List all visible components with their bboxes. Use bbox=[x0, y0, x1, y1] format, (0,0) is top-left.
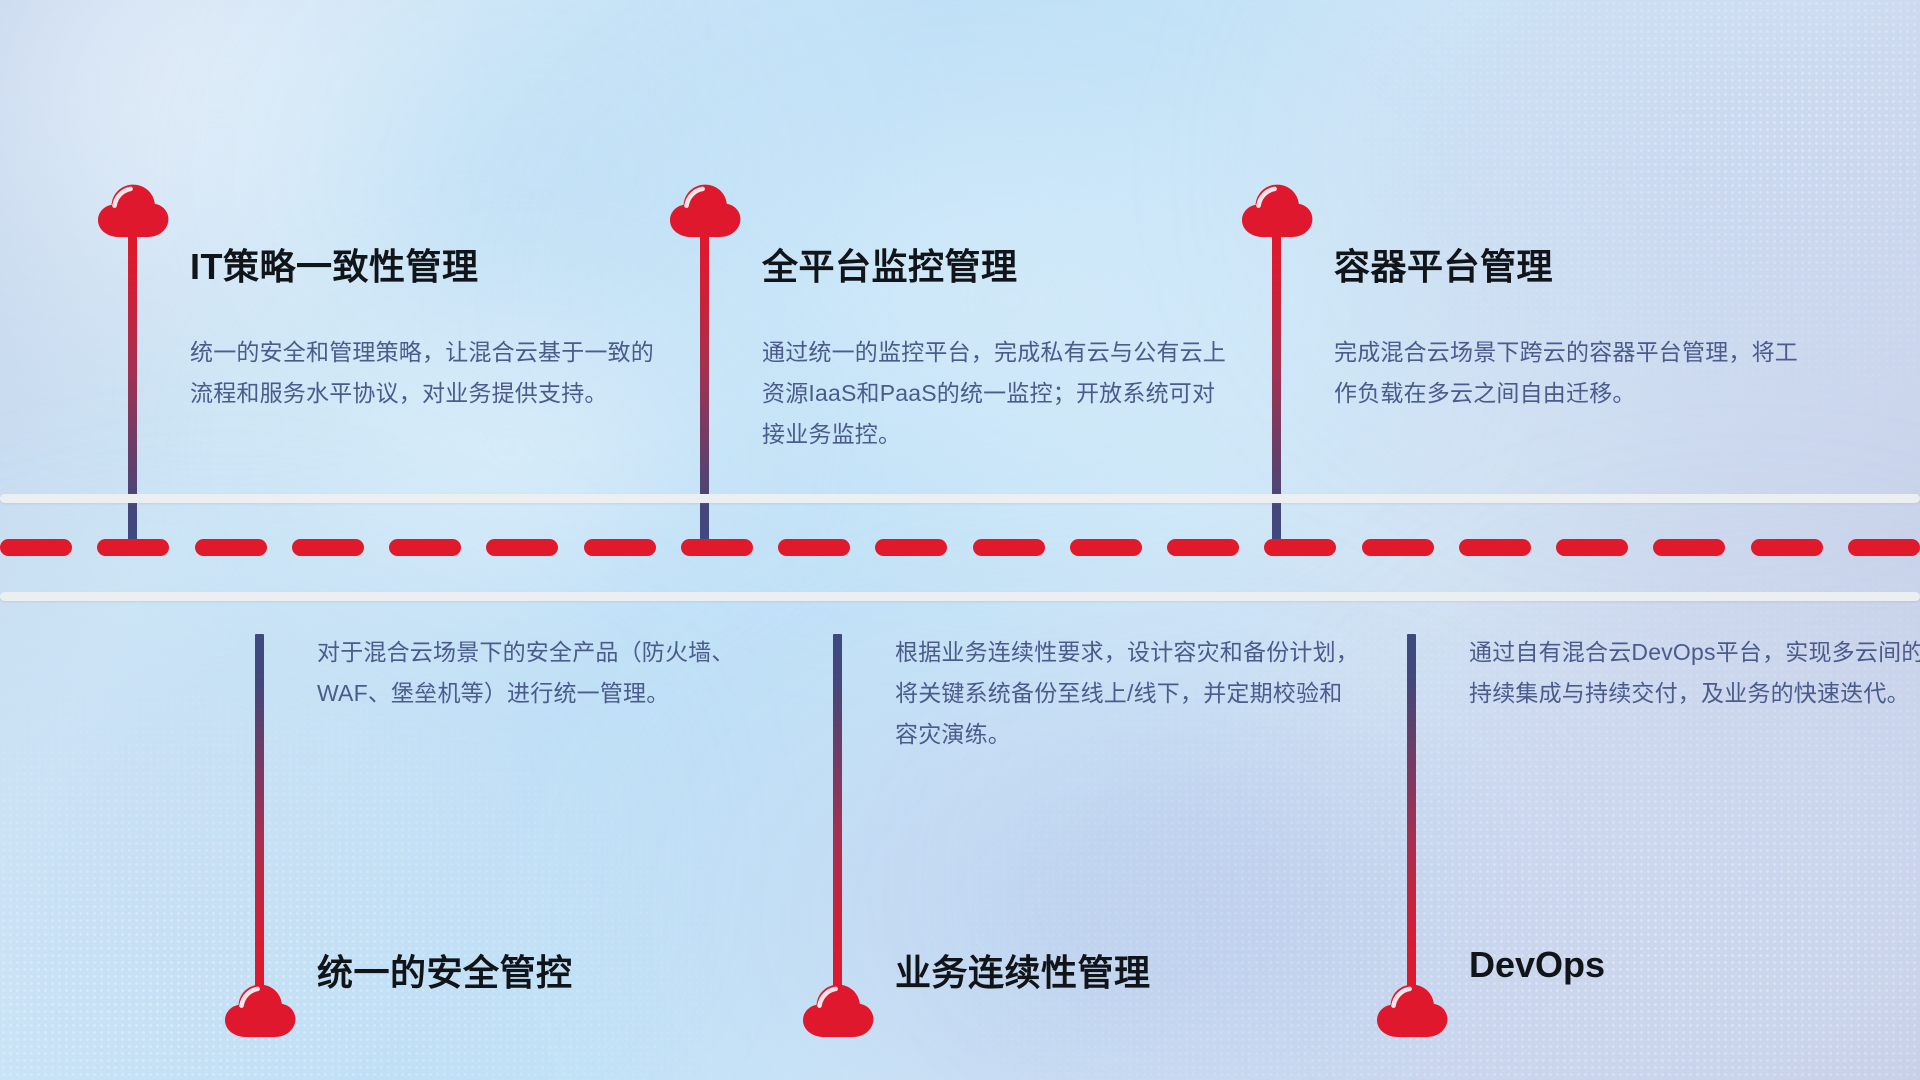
divider-dash bbox=[875, 539, 947, 556]
item-description: 对于混合云场景下的安全产品（防火墙、WAF、堡垒机等）进行统一管理。 bbox=[317, 632, 787, 714]
connector-stem bbox=[255, 634, 264, 986]
item-description: 根据业务连续性要求，设计容灾和备份计划，将关键系统备份至线上/线下，并定期校验和… bbox=[895, 632, 1365, 755]
divider-dash bbox=[1167, 539, 1239, 556]
divider-dash bbox=[1070, 539, 1142, 556]
cloud-icon bbox=[222, 982, 298, 1038]
divider-dash bbox=[1751, 539, 1823, 556]
cloud-icon bbox=[95, 182, 171, 238]
divider-dash bbox=[486, 539, 558, 556]
cloud-icon bbox=[1239, 182, 1315, 238]
item-title: 统一的安全管控 bbox=[317, 944, 573, 996]
divider-dash bbox=[681, 539, 753, 556]
divider-dash bbox=[973, 539, 1045, 556]
item-title: 业务连续性管理 bbox=[895, 944, 1151, 996]
divider-dash bbox=[292, 539, 364, 556]
divider-dash bbox=[1362, 539, 1434, 556]
cloud-icon bbox=[1374, 982, 1450, 1038]
item-description: 统一的安全和管理策略，让混合云基于一致的流程和服务水平协议，对业务提供支持。 bbox=[190, 332, 660, 414]
item-description: 通过自有混合云DevOps平台，实现多云间的持续集成与持续交付，及业务的快速迭代… bbox=[1469, 632, 1920, 714]
item-title: 全平台监控管理 bbox=[762, 238, 1018, 290]
item-title: IT策略一致性管理 bbox=[190, 238, 479, 290]
divider-rail-top bbox=[0, 494, 1920, 503]
divider-dash bbox=[0, 539, 72, 556]
divider-dashed-line bbox=[0, 539, 1920, 556]
item-description: 通过统一的监控平台，完成私有云与公有云上资源IaaS和PaaS的统一监控；开放系… bbox=[762, 332, 1232, 455]
divider-dash bbox=[1653, 539, 1725, 556]
connector-stem bbox=[1407, 634, 1416, 986]
divider-dash bbox=[778, 539, 850, 556]
infographic-canvas: IT策略一致性管理 统一的安全和管理策略，让混合云基于一致的流程和服务水平协议，… bbox=[0, 0, 1920, 1080]
item-title: DevOps bbox=[1469, 944, 1605, 986]
cloud-icon bbox=[800, 982, 876, 1038]
divider-dash bbox=[195, 539, 267, 556]
divider-dash bbox=[1459, 539, 1531, 556]
divider-dash bbox=[1556, 539, 1628, 556]
divider-dash bbox=[1848, 539, 1920, 556]
divider-dash bbox=[389, 539, 461, 556]
divider-rail-bottom bbox=[0, 592, 1920, 601]
divider-dash bbox=[584, 539, 656, 556]
divider-dash bbox=[97, 539, 169, 556]
connector-stem bbox=[833, 634, 842, 986]
item-title: 容器平台管理 bbox=[1334, 238, 1553, 290]
divider-dash bbox=[1264, 539, 1336, 556]
item-description: 完成混合云场景下跨云的容器平台管理，将工作负载在多云之间自由迁移。 bbox=[1334, 332, 1804, 414]
cloud-icon bbox=[667, 182, 743, 238]
